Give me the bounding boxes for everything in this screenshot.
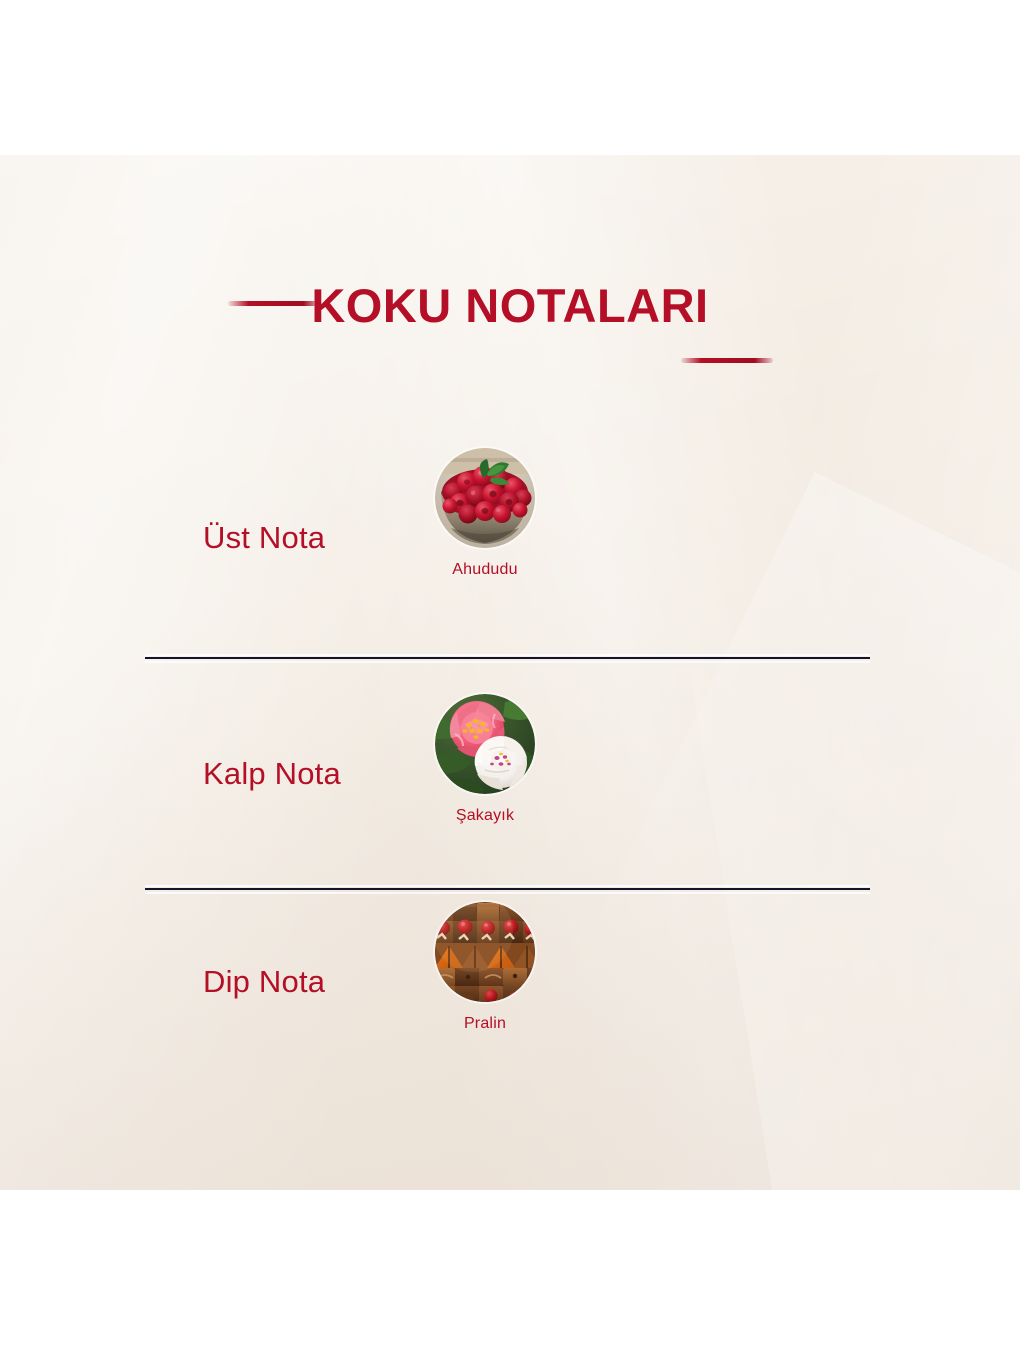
fragrance-notes-infographic: KOKU NOTALARI Üst Nota [0, 0, 1020, 1360]
row-divider [145, 888, 870, 890]
note-media-base: Pralin [380, 902, 590, 1033]
note-row-base: Dip Nota [145, 902, 875, 1112]
note-media-heart: Şakayık [380, 694, 590, 825]
note-caption-base: Pralin [380, 1015, 590, 1033]
note-caption-heart: Şakayık [380, 807, 590, 825]
note-label-heart: Kalp Nota [203, 756, 341, 792]
note-label-base: Dip Nota [203, 964, 325, 1000]
row-divider [145, 657, 870, 659]
raspberries-in-bowl-photo [435, 448, 535, 548]
page-title: KOKU NOTALARI [0, 278, 1020, 334]
peony-flowers-photo [435, 694, 535, 794]
note-row-heart: Kalp Nota [145, 694, 875, 904]
title-rule-right-decoration [681, 358, 773, 363]
note-label-top: Üst Nota [203, 520, 325, 556]
note-caption-top: Ahududu [380, 561, 590, 579]
title-block: KOKU NOTALARI [0, 278, 1020, 378]
assorted-pralines-chocolate-photo [435, 902, 535, 1002]
note-row-top: Üst Nota [145, 448, 875, 658]
note-media-top: Ahududu [380, 448, 590, 579]
